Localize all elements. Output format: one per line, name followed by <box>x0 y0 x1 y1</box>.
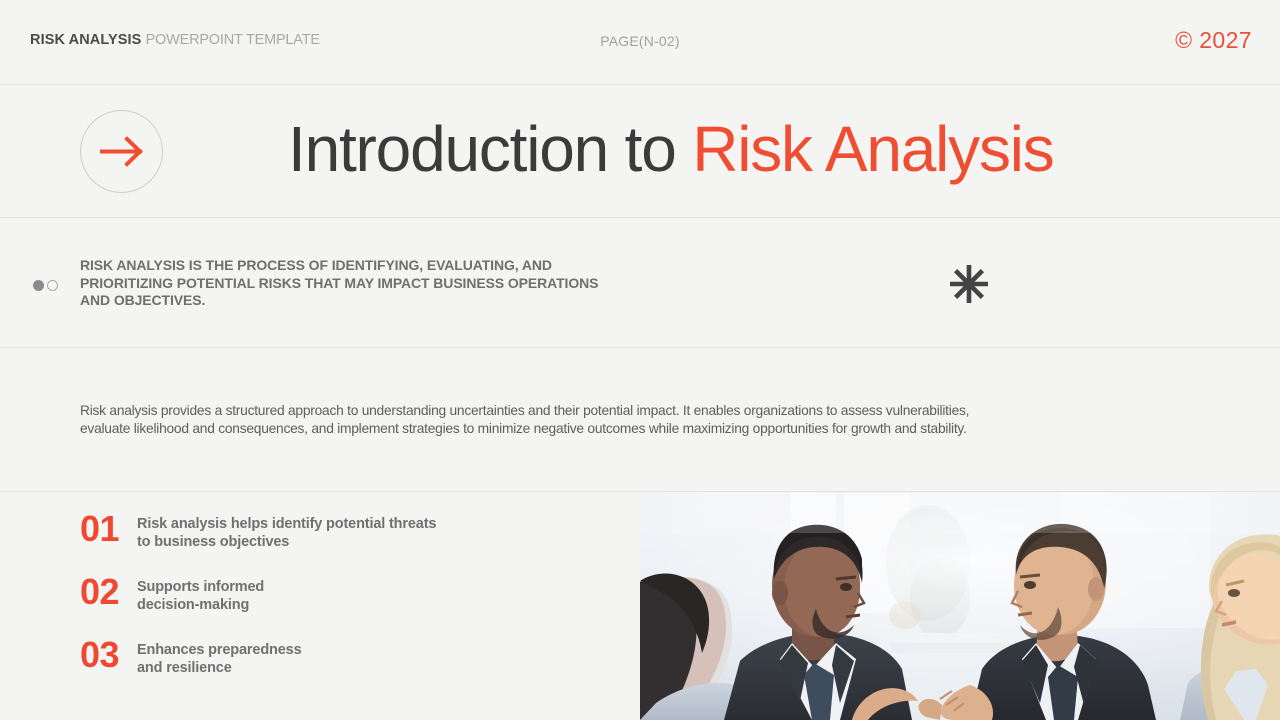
list-item[interactable]: 03 Enhances preparedness and resilience <box>80 636 301 677</box>
slide: RISK ANALYSIS POWERPOINT TEMPLATE PAGE(N… <box>0 0 1280 720</box>
slide-header: RISK ANALYSIS POWERPOINT TEMPLATE PAGE(N… <box>0 0 1280 85</box>
page-title: Introduction to Risk Analysis <box>288 103 1054 195</box>
paragraph-band: Risk analysis provides a structured appr… <box>0 348 1280 492</box>
body-paragraph: Risk analysis provides a structured appr… <box>80 402 980 438</box>
list-item-label: Supports informed decision-making <box>137 573 264 614</box>
statement-band: RISK ANALYSIS IS THE PROCESS OF IDENTIFY… <box>0 218 1280 348</box>
title-band: Introduction to Risk Analysis <box>0 85 1280 218</box>
pagination-dot-active[interactable] <box>33 280 44 291</box>
copyright-label: © 2027 <box>1175 27 1252 54</box>
list-item-number: 01 <box>80 510 137 547</box>
list-item-label: Enhances preparedness and resilience <box>137 636 301 677</box>
list-item-number: 02 <box>80 573 137 610</box>
page-title-accent: Risk Analysis <box>692 113 1053 185</box>
list-item-number: 03 <box>80 636 137 673</box>
pagination-dot-inactive[interactable] <box>47 280 58 291</box>
list-item[interactable]: 02 Supports informed decision-making <box>80 573 264 614</box>
statement-text: RISK ANALYSIS IS THE PROCESS OF IDENTIFY… <box>80 257 600 310</box>
list-item[interactable]: 01 Risk analysis helps identify potentia… <box>80 510 436 551</box>
asterisk-icon <box>947 262 991 311</box>
bottom-band: 01 Risk analysis helps identify potentia… <box>0 493 1280 720</box>
list-item-label: Risk analysis helps identify potential t… <box>137 510 436 551</box>
arrow-right-icon[interactable] <box>80 110 163 193</box>
key-points-list: 01 Risk analysis helps identify potentia… <box>0 493 640 720</box>
meeting-photo <box>640 493 1280 720</box>
pagination-dots-icon[interactable] <box>33 280 58 291</box>
page-title-lead: Introduction to <box>288 113 692 185</box>
page-indicator: PAGE(N-02) <box>0 33 1280 49</box>
